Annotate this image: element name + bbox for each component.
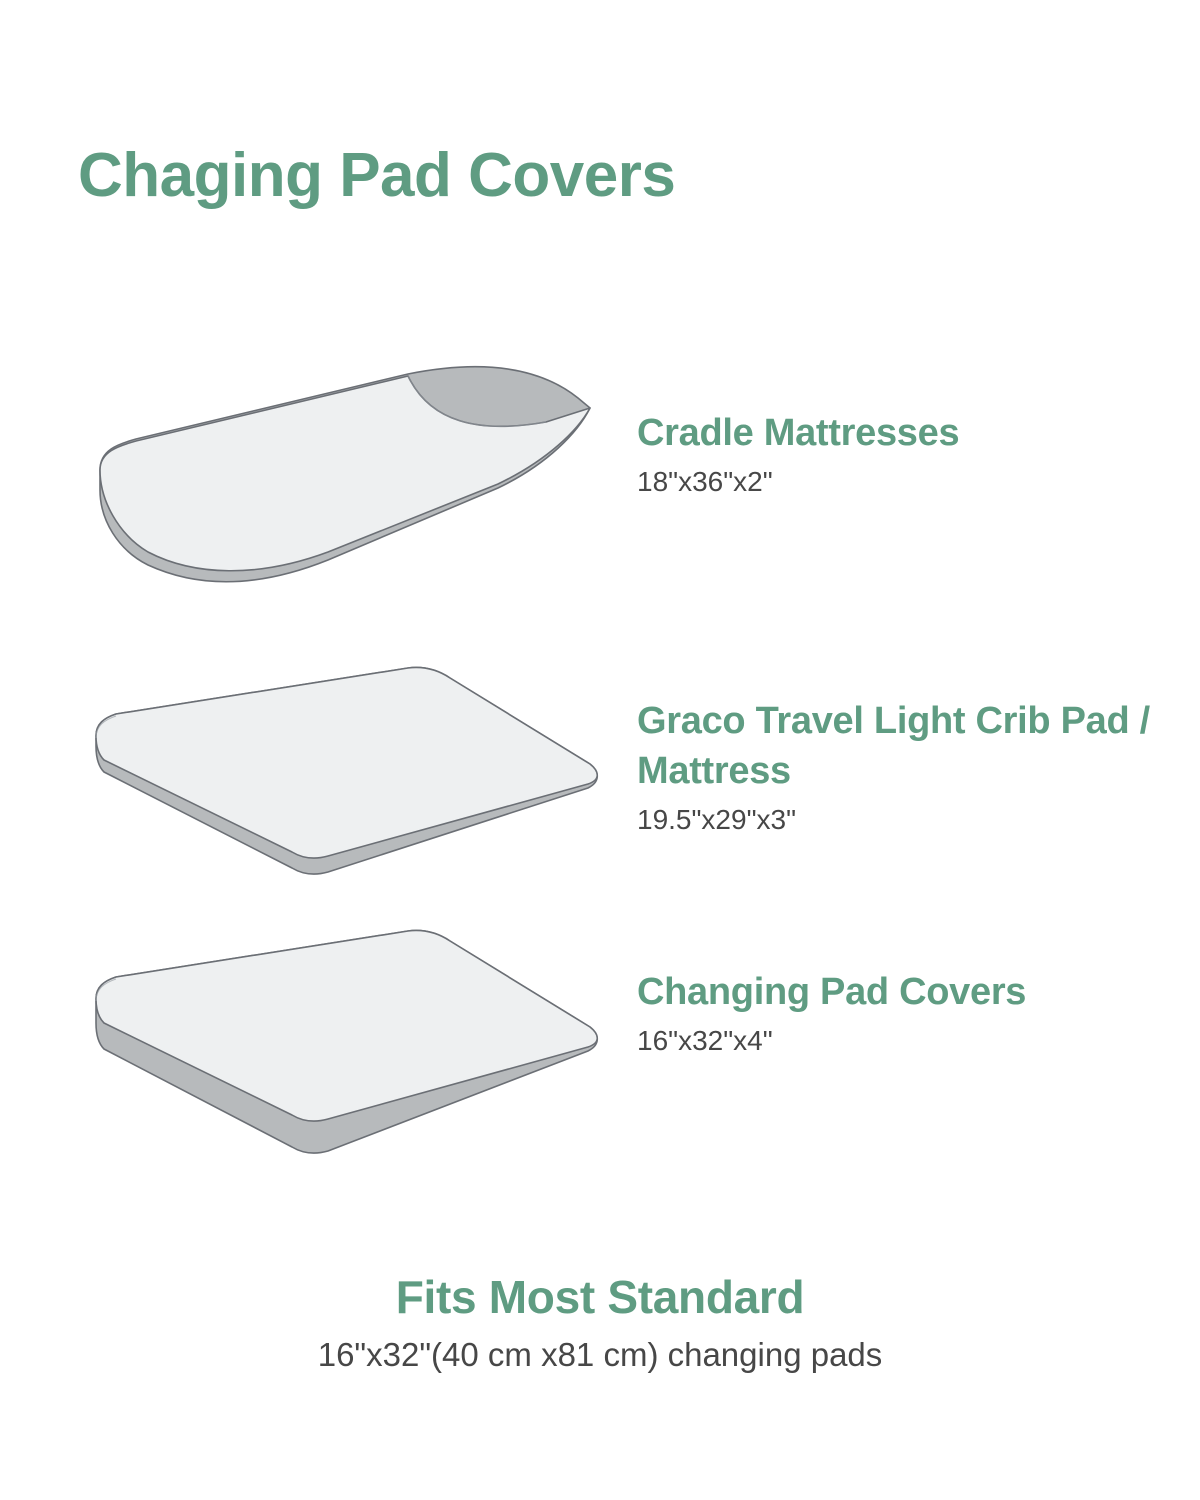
flat-thick-mattress-icon: [78, 925, 618, 1165]
product-dimensions: 16"x32"x4": [637, 1024, 1167, 1058]
product-dimensions: 18"x36"x2": [637, 465, 1167, 499]
footer-fit-note: Fits Most Standard 16"x32"(40 cm x81 cm)…: [0, 1268, 1200, 1376]
product-row-graco-travel-light-crib-pad: Graco Travel Light Crib Pad / Mattress 1…: [0, 660, 1200, 890]
flat-thin-mattress-icon: [78, 660, 618, 900]
product-title: Graco Travel Light Crib Pad / Mattress: [637, 696, 1167, 796]
product-title: Cradle Mattresses: [637, 408, 1167, 458]
product-row-cradle-mattresses: Cradle Mattresses 18"x36"x2": [0, 360, 1200, 610]
footer-subtitle: 16"x32"(40 cm x81 cm) changing pads: [0, 1334, 1200, 1376]
product-info-graco-travel-light-crib-pad: Graco Travel Light Crib Pad / Mattress 1…: [637, 696, 1167, 837]
product-title: Changing Pad Covers: [637, 967, 1167, 1017]
product-dimensions: 19.5"x29"x3": [637, 803, 1167, 837]
product-size-guide-page: Chaging Pad Covers Cradle Mattresses 18"…: [0, 0, 1200, 1500]
page-title: Chaging Pad Covers: [78, 140, 675, 212]
product-row-changing-pad-covers: Changing Pad Covers 16"x32"x4": [0, 925, 1200, 1165]
contoured-changing-pad-icon: [78, 360, 618, 600]
product-info-cradle-mattresses: Cradle Mattresses 18"x36"x2": [637, 408, 1167, 499]
product-info-changing-pad-covers: Changing Pad Covers 16"x32"x4": [637, 967, 1167, 1058]
footer-title: Fits Most Standard: [0, 1268, 1200, 1326]
